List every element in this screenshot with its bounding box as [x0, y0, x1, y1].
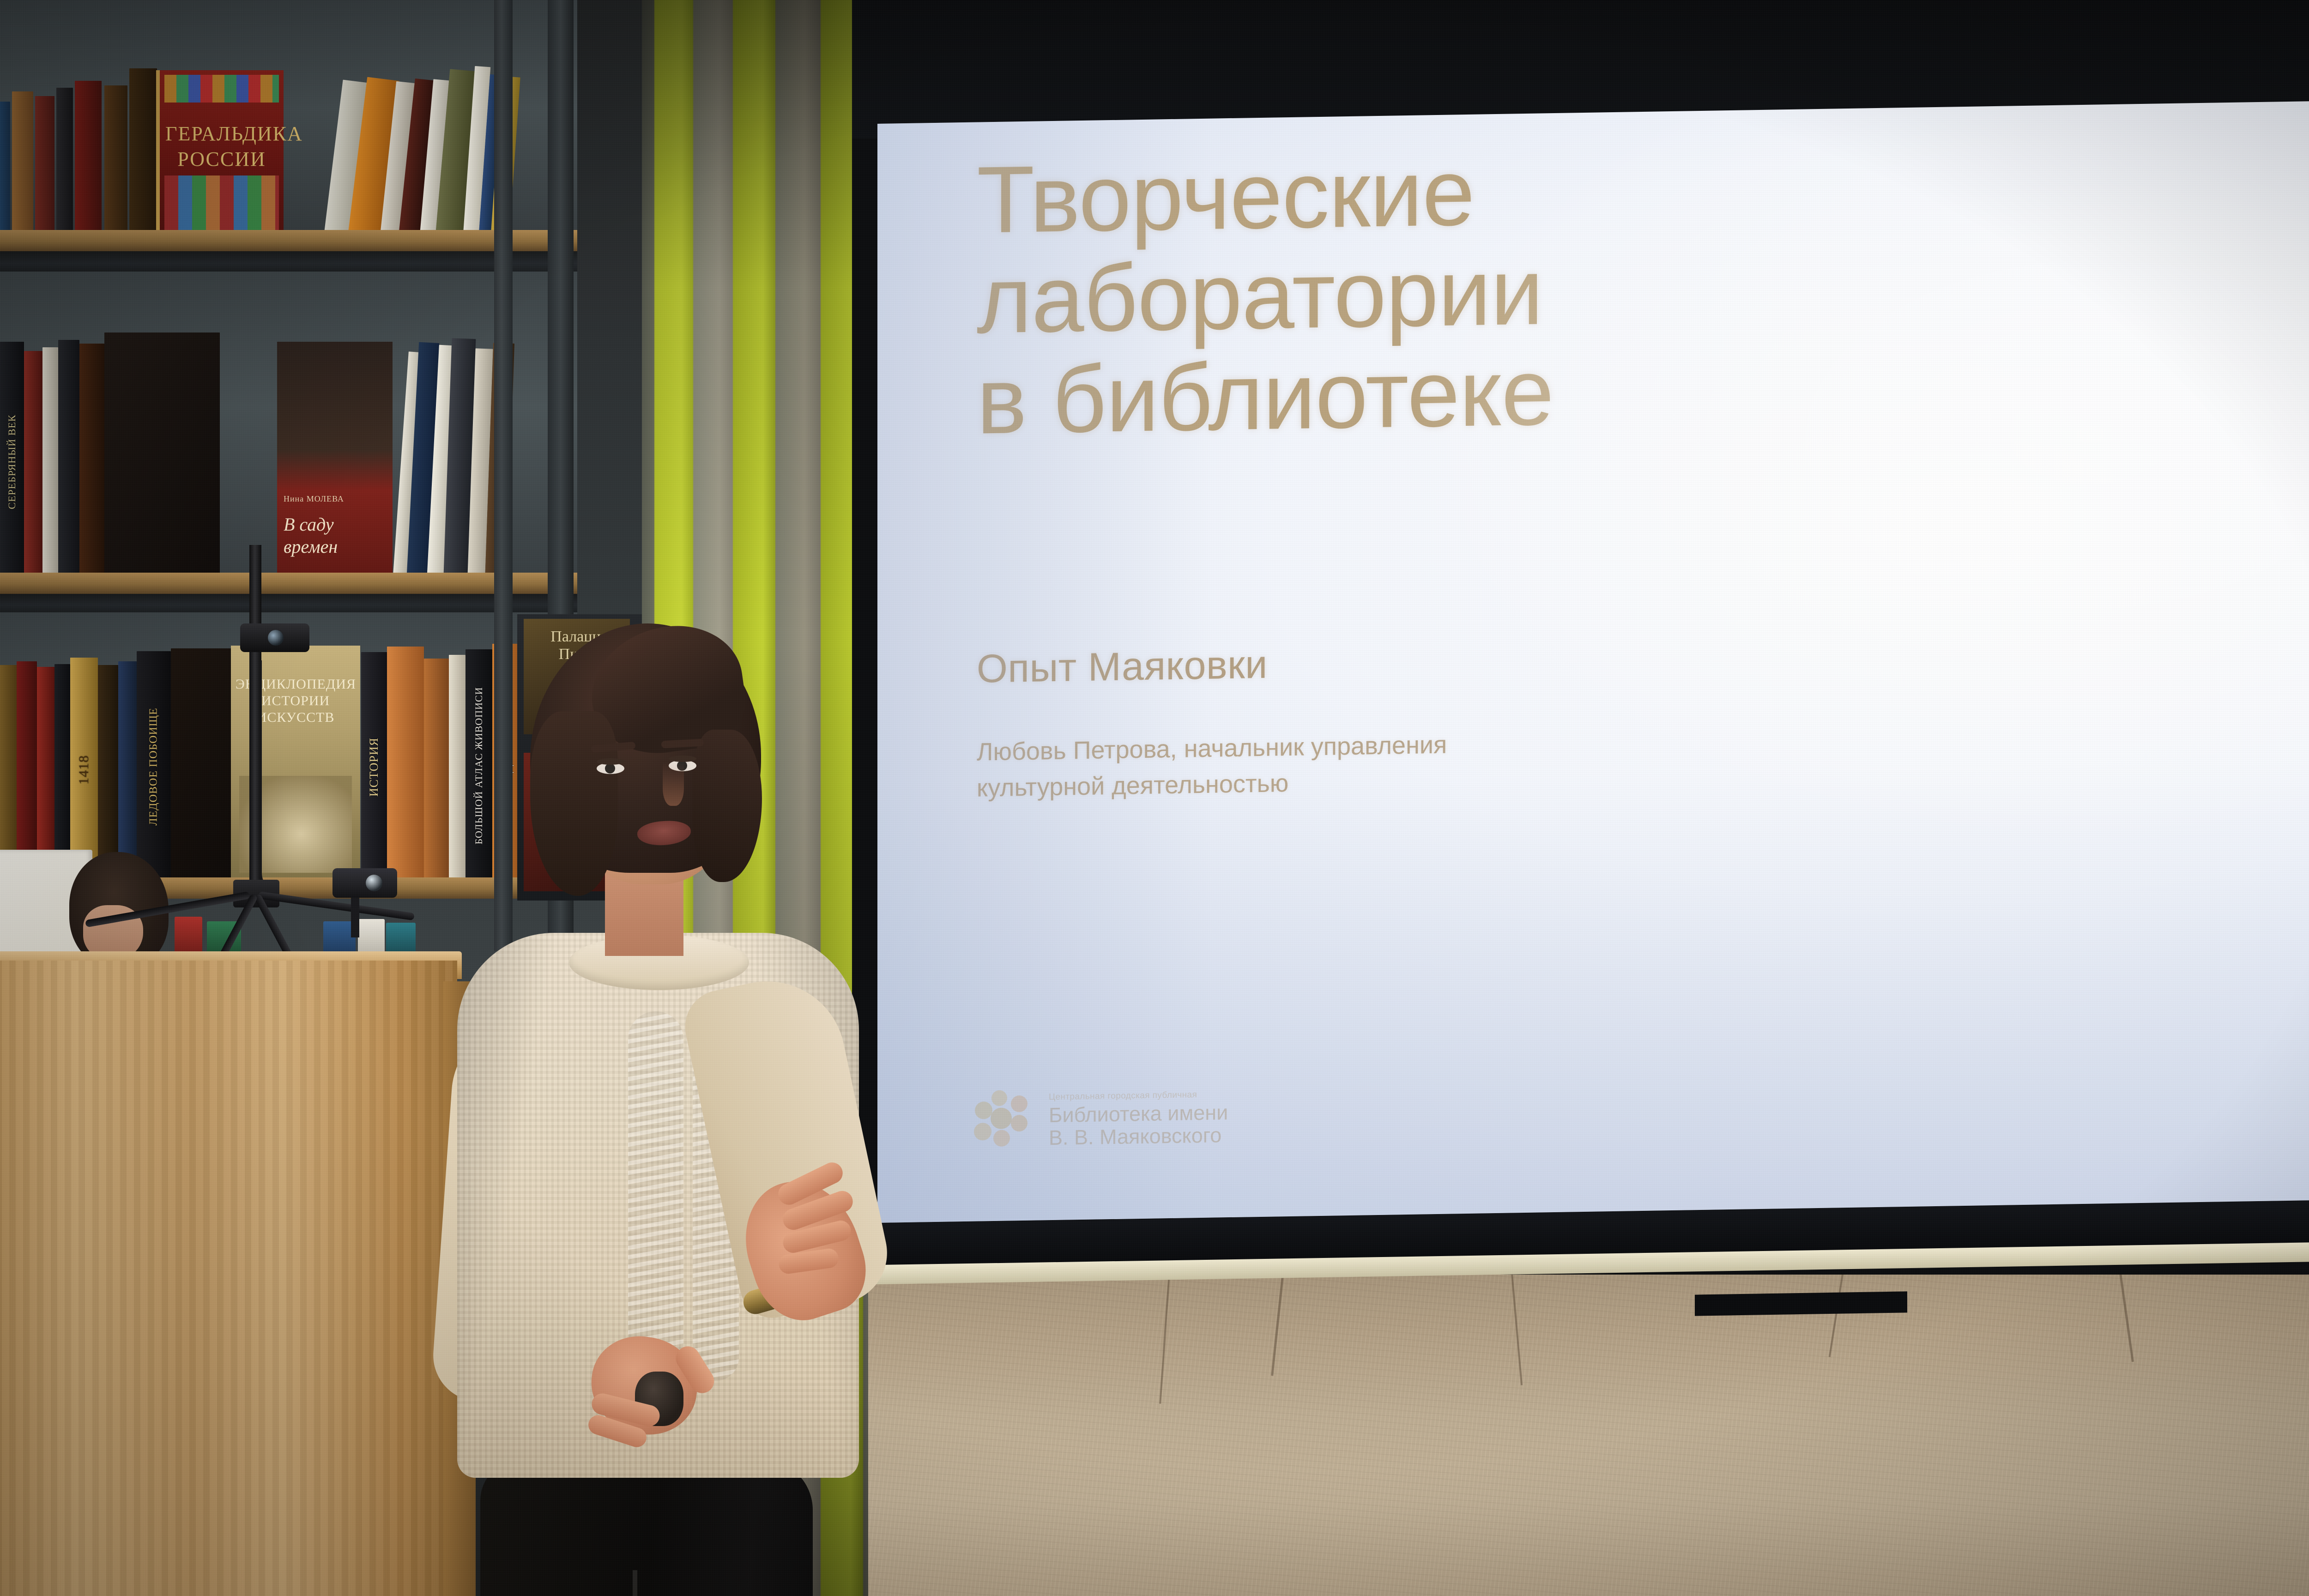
book-title-geraldika: ГЕРАЛЬДИКА РОССИИ — [165, 121, 278, 172]
webcam-secondary-lens-icon — [366, 875, 382, 891]
library-logo-line-2: В. В. Маяковского — [1049, 1124, 1228, 1149]
library-logo-text: Центральная городская публичная Библиоте… — [1049, 1089, 1228, 1149]
slide-subtitle: Опыт Маяковки — [977, 642, 1268, 692]
library-logo: Центральная городская публичная Библиоте… — [972, 1086, 1228, 1155]
slide-presenter-line-2: культурной деятельностью — [977, 763, 1447, 806]
book-1418: 1418 — [70, 658, 98, 882]
webcam-stand — [351, 896, 359, 937]
library-logo-superline: Центральная городская публичная — [1049, 1089, 1228, 1102]
presenter-hair-back — [693, 730, 762, 882]
slide-title-line-3: в библиотеке — [977, 342, 1553, 451]
presenter-trousers — [480, 1459, 813, 1596]
shelf-row-second: СЕРЕБРЯНЫЙ ВЕК Нина МОЛЕВА В саду времен — [0, 323, 577, 582]
wooden-podium — [0, 961, 457, 1596]
slide-title: Творческие лаборатории в библиотеке — [977, 141, 1553, 451]
book-cover-v-sadu-vremen: Нина МОЛЕВА В саду времен — [277, 342, 393, 582]
projection-screen-pull-tab — [1695, 1291, 1907, 1316]
presenter-trouser-crease — [633, 1570, 637, 1596]
equipment-cable — [260, 660, 290, 891]
book-author-moleva: Нина МОЛЕВА — [284, 494, 344, 504]
book-title-v-sadu-vremen: В саду времен — [284, 514, 388, 558]
presenter-pupil-left — [605, 763, 615, 774]
presenter-eyelid-left — [597, 758, 624, 765]
book-geraldika-rossii — [129, 68, 157, 240]
webcam-top[interactable] — [240, 623, 309, 652]
book-serebryaniy-vek: СЕРЕБРЯНЫЙ ВЕК — [0, 342, 24, 582]
slide-presenter-line-1: Любовь Петрова, начальник управления — [977, 727, 1447, 770]
book-istoriya: ИСТОРИЯ — [361, 652, 387, 882]
webcam-secondary[interactable] — [332, 868, 397, 898]
presentation-photo-scene: ГЕРАЛЬДИКА РОССИИ СЕРЕБРЯНЫЙ ВЕК — [0, 0, 2309, 1596]
library-logo-flower-icon — [972, 1089, 1037, 1155]
slide-title-line-1: Творческие — [977, 141, 1553, 250]
webcam-lens-icon — [268, 630, 284, 646]
presenter — [453, 614, 961, 1596]
projection-screen[interactable]: Творческие лаборатории в библиотеке Опыт… — [877, 100, 2309, 1223]
book-ledovoe-poboishche: ЛЕДОВОЕ ПОБОИЩЕ — [137, 651, 171, 882]
presenter-eyelid-right — [669, 756, 696, 762]
slide-title-line-2: лаборатории — [977, 241, 1553, 351]
presenter-nose — [663, 762, 684, 806]
library-logo-line-1: Библиотека имени — [1049, 1101, 1228, 1127]
shelf-row-top: ГЕРАЛЬДИКА РОССИИ — [0, 69, 577, 240]
book-cover-geraldika: ГЕРАЛЬДИКА РОССИИ — [156, 70, 284, 240]
presenter-neck — [605, 873, 683, 956]
presenter-hair-side — [530, 711, 618, 896]
slide-presenter-block: Любовь Петрова, начальник управления кул… — [977, 727, 1447, 807]
